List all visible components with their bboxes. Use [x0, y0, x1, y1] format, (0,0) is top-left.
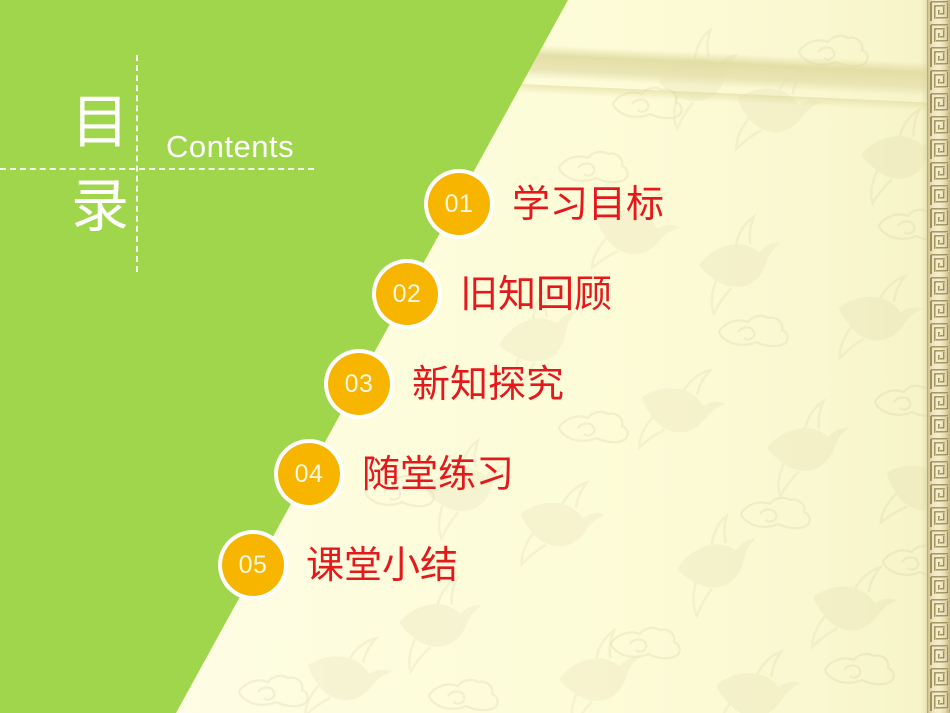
greek-key-unit — [928, 437, 950, 460]
menu-number-badge-05[interactable]: 05 — [222, 534, 284, 596]
greek-key-unit — [928, 299, 950, 322]
slide-canvas: 目 录 Contents 01 学习目标 02 旧知回顾 03 新知探究 04 … — [0, 0, 950, 713]
greek-key-unit — [928, 598, 950, 621]
menu-label-01[interactable]: 学习目标 — [512, 185, 664, 223]
greek-key-unit — [928, 184, 950, 207]
greek-key-unit — [928, 368, 950, 391]
greek-key-unit — [928, 92, 950, 115]
greek-key-unit — [928, 460, 950, 483]
greek-key-border-strip — [927, 0, 950, 713]
menu-number-badge-04[interactable]: 04 — [278, 443, 340, 505]
greek-key-unit — [928, 506, 950, 529]
greek-key-unit — [928, 391, 950, 414]
greek-key-unit — [928, 253, 950, 276]
contents-menu: 01 学习目标 02 旧知回顾 03 新知探究 04 随堂练习 05 课堂小结 — [0, 0, 950, 713]
greek-key-unit — [928, 322, 950, 345]
menu-item-05[interactable]: 05 课堂小结 — [222, 529, 458, 601]
greek-key-unit — [928, 138, 950, 161]
menu-item-01[interactable]: 01 学习目标 — [428, 168, 664, 240]
greek-key-unit — [928, 115, 950, 138]
menu-label-04[interactable]: 随堂练习 — [362, 455, 514, 493]
greek-key-unit — [928, 23, 950, 46]
greek-key-unit — [928, 276, 950, 299]
greek-key-unit — [928, 690, 950, 713]
greek-key-unit — [928, 46, 950, 69]
greek-key-unit — [928, 69, 950, 92]
greek-key-unit — [928, 667, 950, 690]
menu-number-badge-01[interactable]: 01 — [428, 173, 490, 235]
greek-key-unit — [928, 644, 950, 667]
greek-key-unit — [928, 0, 950, 23]
greek-key-unit — [928, 230, 950, 253]
menu-label-03[interactable]: 新知探究 — [412, 365, 564, 403]
menu-item-03[interactable]: 03 新知探究 — [328, 348, 564, 420]
greek-key-unit — [928, 161, 950, 184]
greek-key-unit — [928, 529, 950, 552]
menu-label-05[interactable]: 课堂小结 — [306, 546, 458, 584]
greek-key-unit — [928, 345, 950, 368]
menu-label-02[interactable]: 旧知回顾 — [460, 275, 612, 313]
greek-key-unit — [928, 552, 950, 575]
menu-number-badge-02[interactable]: 02 — [376, 263, 438, 325]
menu-item-04[interactable]: 04 随堂练习 — [278, 438, 514, 510]
menu-number-badge-03[interactable]: 03 — [328, 353, 390, 415]
greek-key-unit — [928, 414, 950, 437]
greek-key-unit — [928, 621, 950, 644]
greek-key-unit — [928, 483, 950, 506]
menu-item-02[interactable]: 02 旧知回顾 — [376, 258, 612, 330]
greek-key-unit — [928, 207, 950, 230]
greek-key-unit — [928, 575, 950, 598]
